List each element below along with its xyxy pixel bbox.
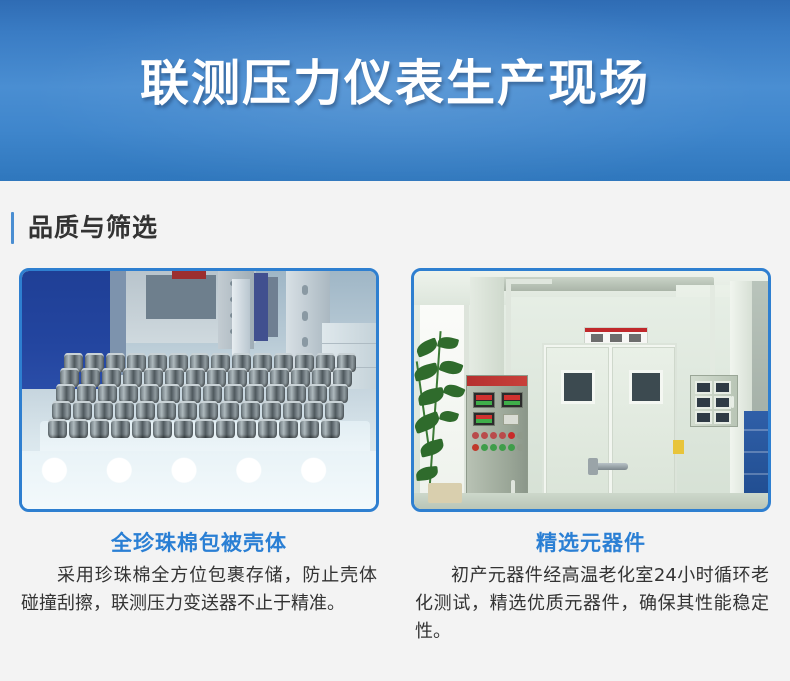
- door-handle-icon: [594, 463, 628, 470]
- card-caption-body: 采用珍珠棉全方位包裹存储，防止壳体碰撞刮擦，联测压力变送器不止于精准。: [19, 562, 379, 618]
- meter-panel-box: [690, 375, 738, 427]
- card-caption-title: 精选元器件: [411, 530, 771, 556]
- card-caption-body: 初产元器件经高温老化室24小时循环老化测试，精选优质元器件，确保其性能稳定性。: [411, 562, 771, 646]
- chamber-door: [542, 343, 677, 509]
- accent-bar-icon: [11, 212, 14, 244]
- housing-array: [50, 353, 362, 445]
- aging-chamber-photo: [411, 268, 771, 512]
- section-heading: 品质与筛选: [11, 208, 158, 248]
- banner-title: 联测压力仪表生产现场: [0, 53, 790, 115]
- product-detail-page: 联测压力仪表生产现场 品质与筛选: [0, 0, 790, 681]
- card-caption-title: 全珍珠棉包被壳体: [19, 530, 379, 556]
- feature-card-list: 全珍珠棉包被壳体 采用珍珠棉全方位包裹存储，防止壳体碰撞刮擦，联测压力变送器不止…: [0, 268, 790, 646]
- feature-card: 精选元器件 初产元器件经高温老化室24小时循环老化测试，精选优质元器件，确保其性…: [411, 268, 771, 646]
- section-heading-label: 品质与筛选: [28, 212, 158, 244]
- feature-card: 全珍珠棉包被壳体 采用珍珠棉全方位包裹存储，防止壳体碰撞刮擦，联测压力变送器不止…: [19, 268, 379, 646]
- page-banner: 联测压力仪表生产现场: [0, 0, 790, 181]
- foam-packed-housings-photo: [19, 268, 379, 512]
